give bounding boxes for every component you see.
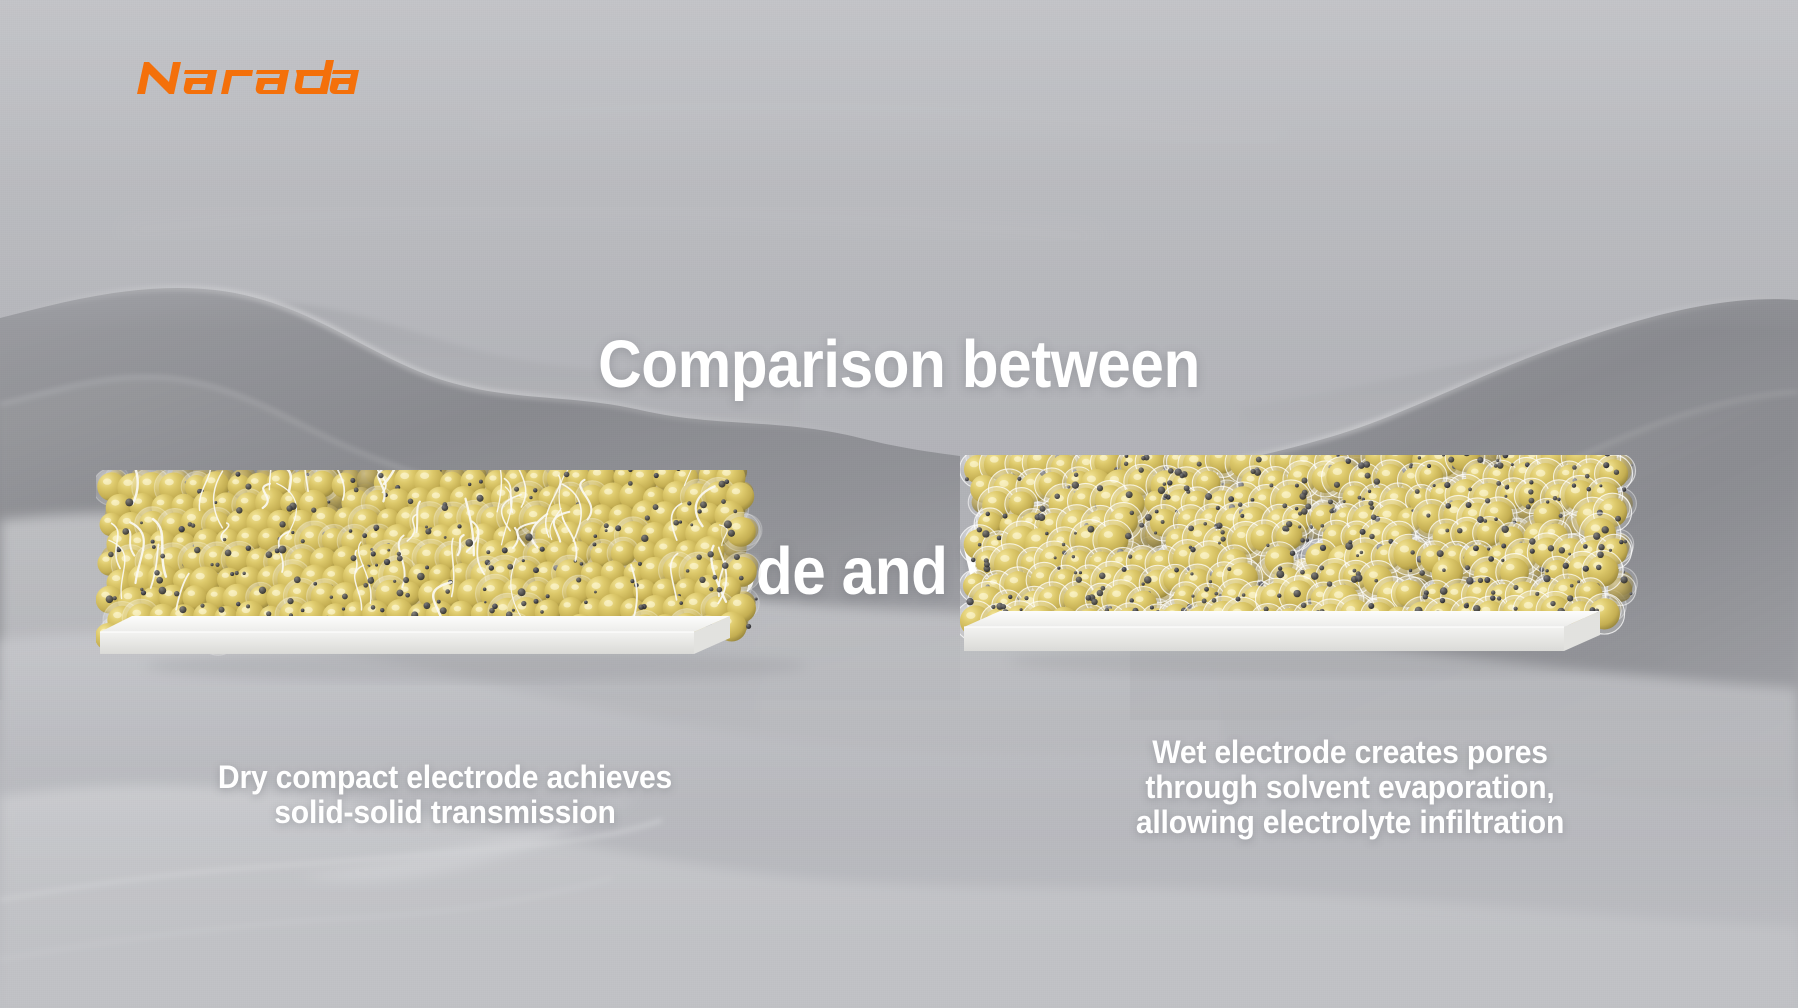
dry-current-collector (100, 616, 730, 654)
wet-electrode-caption: Wet electrode creates pores through solv… (1021, 735, 1679, 840)
slide-canvas: narada Comparison between Dry Electrode … (0, 0, 1798, 1008)
wet-particle-mass (955, 429, 1637, 641)
wet-electrode-illustration (960, 455, 1700, 710)
dry-electrode-illustration (96, 470, 826, 710)
wet-current-collector (964, 611, 1600, 651)
narada-logo[interactable]: narada (129, 56, 359, 98)
dry-electrode-caption: Dry compact electrode achieves solid-sol… (121, 760, 770, 830)
title-line-1: Comparison between (90, 330, 1708, 399)
